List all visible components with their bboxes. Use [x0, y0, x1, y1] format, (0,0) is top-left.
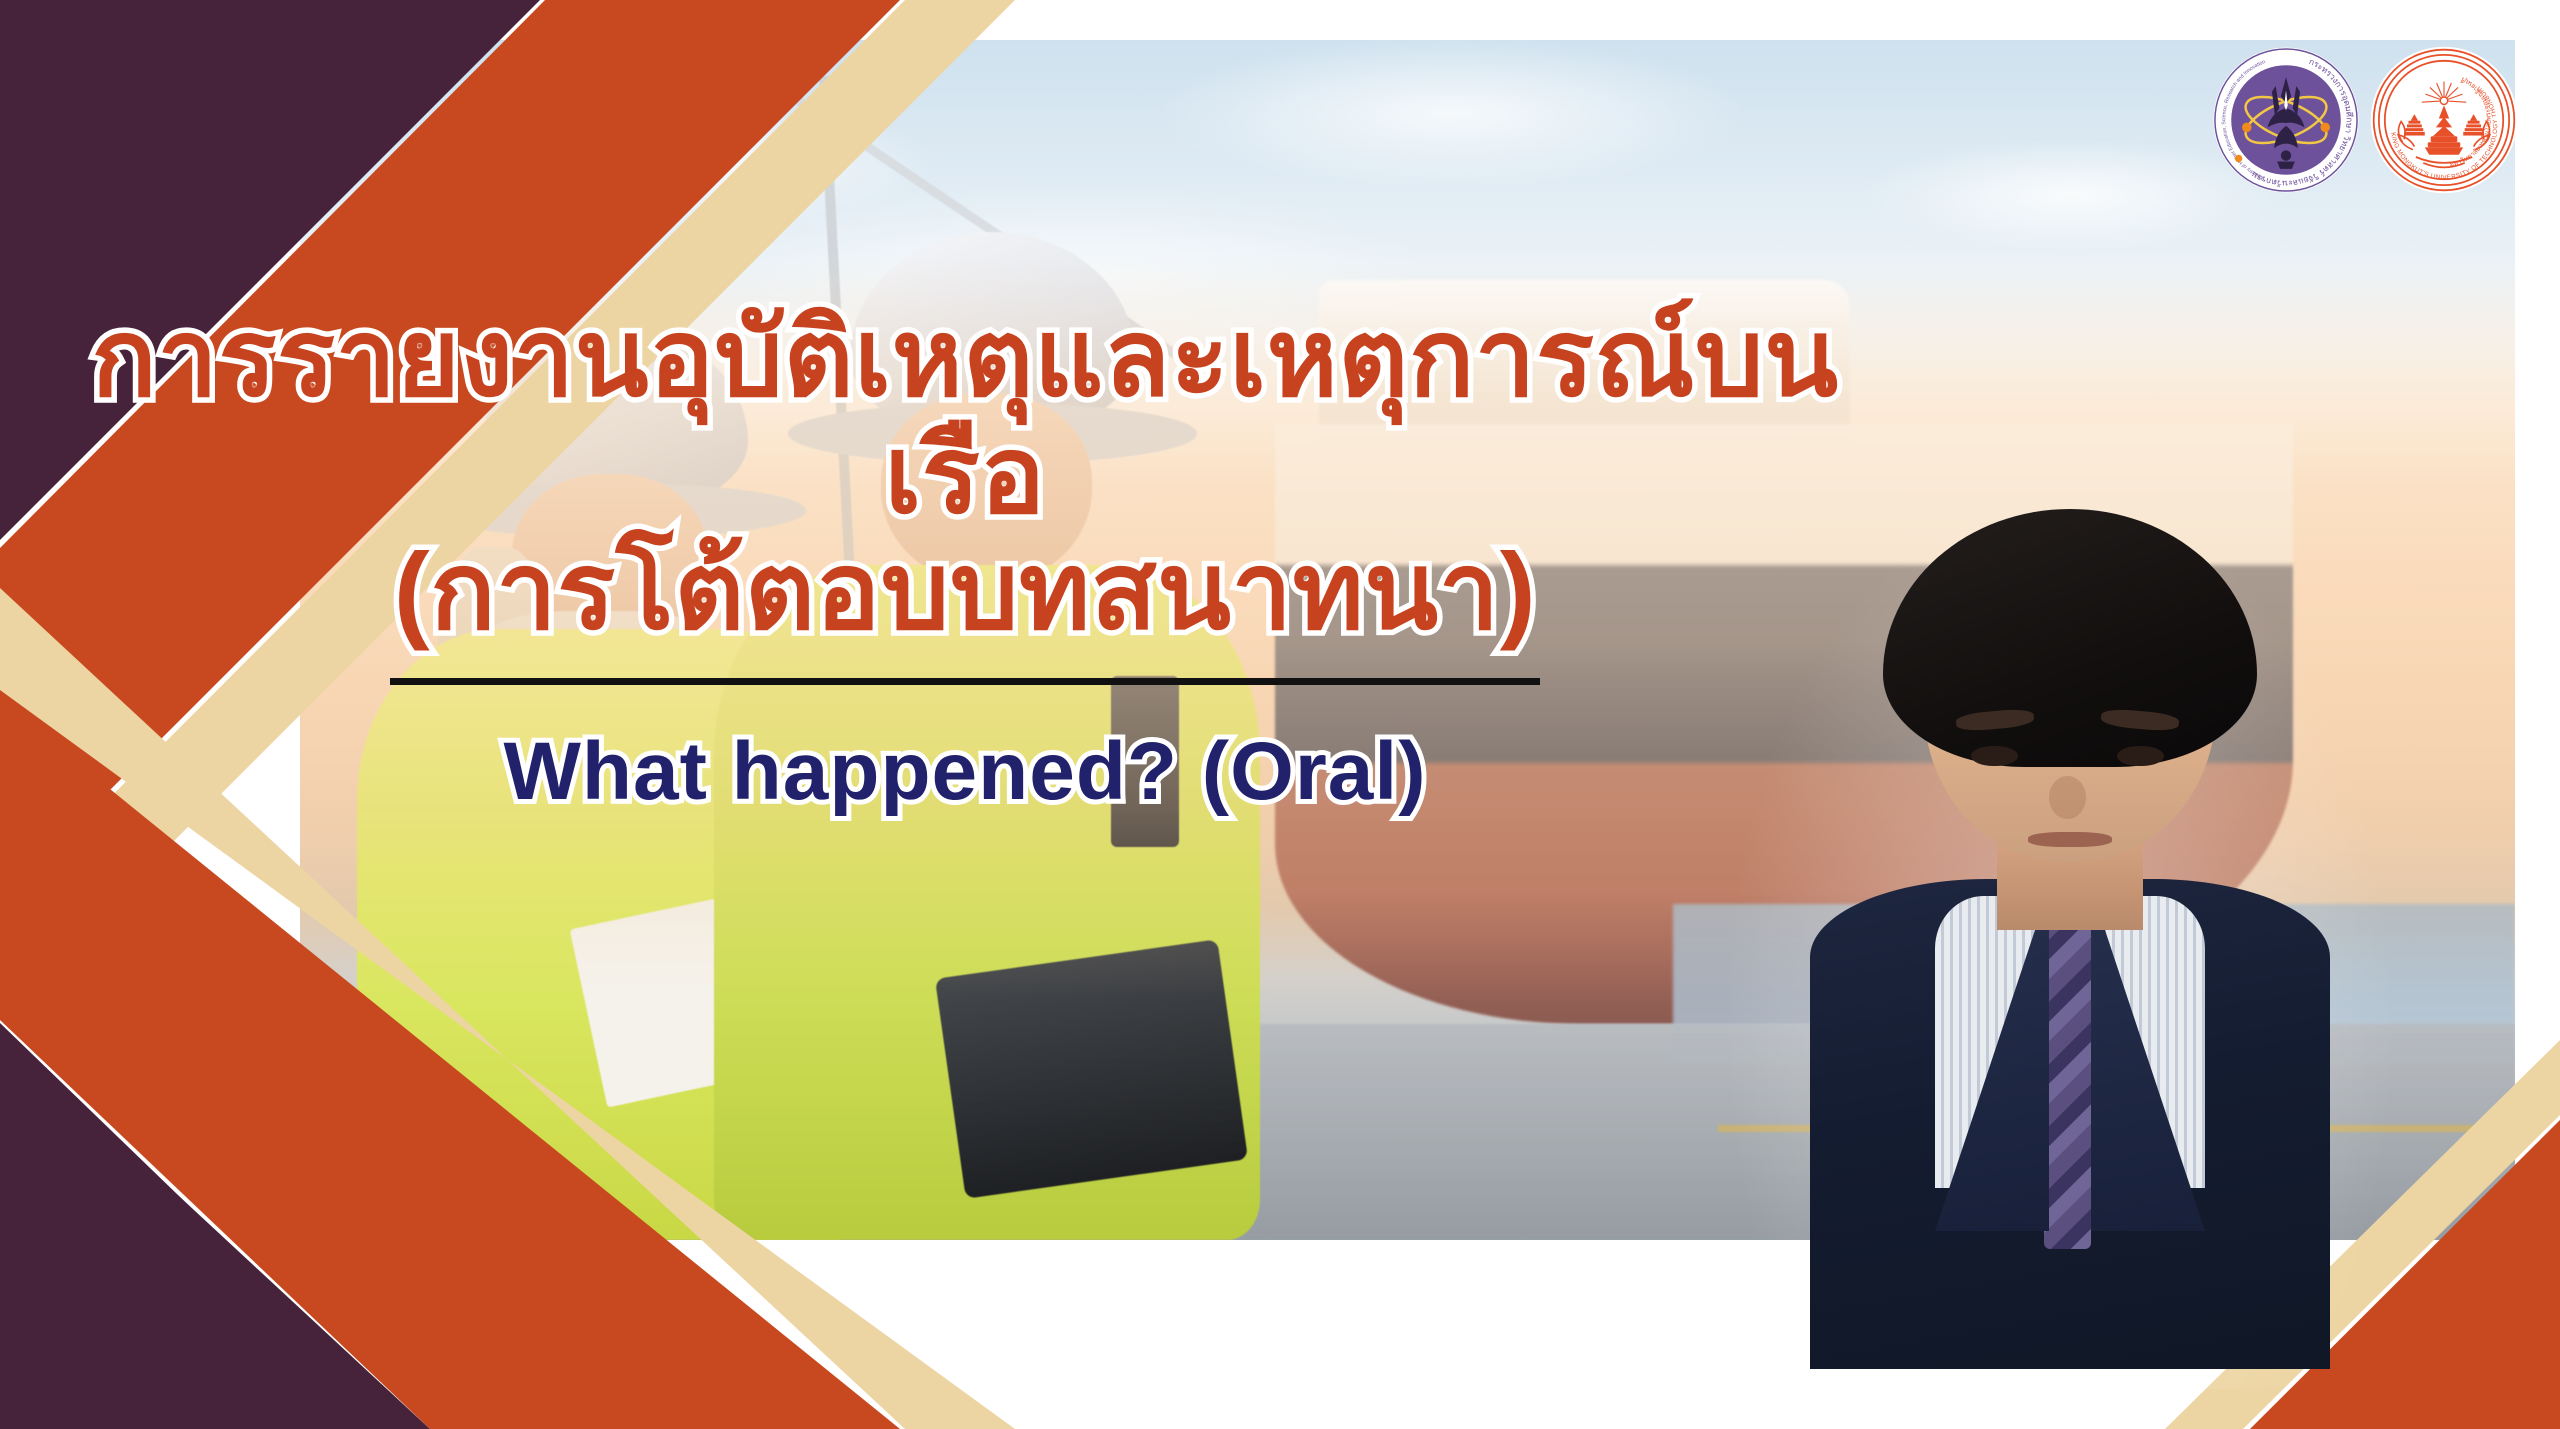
- presenter-nose: [2049, 776, 2085, 819]
- presenter-eye-right: [2117, 746, 2164, 767]
- presenter-eye-left: [1971, 746, 2018, 767]
- ministry-of-higher-education-logo: กระทรวงการอุดมศึกษา วิทยาศาสตร์ วิจัยและ…: [2212, 46, 2360, 194]
- presenter-portrait: [1810, 509, 2330, 1369]
- title-line-1: การรายงานอุบัติเหตุและเหตุการณ์บนเรือ: [91, 297, 1838, 535]
- page-title: การรายงานอุบัติเหตุและเหตุการณ์บนเรือ (ก…: [60, 300, 1870, 650]
- presenter-mouth: [2028, 832, 2111, 847]
- presenter-hair: [1883, 509, 2257, 767]
- kmutt-logo: KING MONGKUT'S UNIVERSITY OF TECHNOLOGY …: [2370, 46, 2518, 194]
- title-slide: กระทรวงการอุดมศึกษา วิทยาศาสตร์ วิจัยและ…: [0, 0, 2560, 1429]
- logo-row: กระทรวงการอุดมศึกษา วิทยาศาสตร์ วิจัยและ…: [2212, 46, 2518, 194]
- necktie: [2044, 922, 2091, 1249]
- title-divider-rule: [390, 678, 1540, 685]
- page-subtitle: What happened? (Oral): [60, 725, 1870, 819]
- title-line-2: (การโต้ตอบบทสนาทนา): [60, 533, 1870, 650]
- headline-block: การรายงานอุบัติเหตุและเหตุการณ์บนเรือ (ก…: [0, 300, 1930, 819]
